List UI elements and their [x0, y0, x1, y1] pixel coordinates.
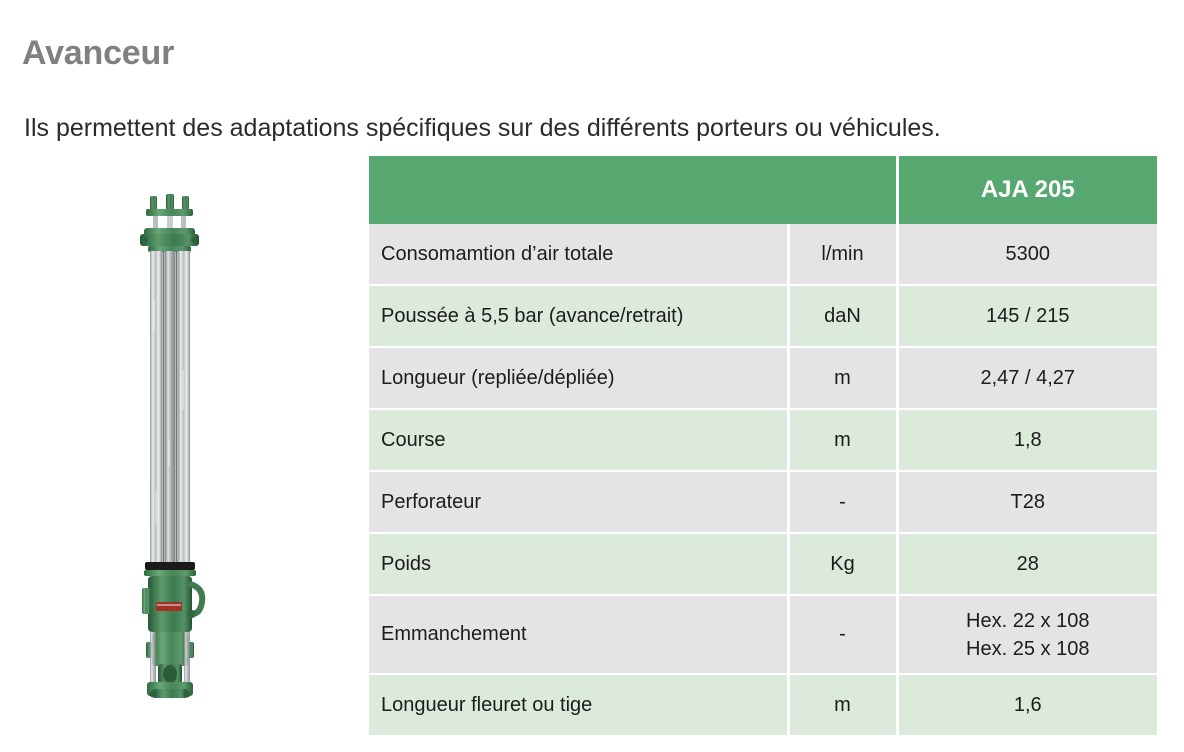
cell-spec-unit: - — [788, 595, 897, 674]
value-line: 1,8 — [899, 426, 1158, 454]
cell-spec-value: 5300 — [897, 224, 1157, 285]
cell-spec-value: Hex. 22 x 108Hex. 25 x 108 — [897, 595, 1157, 674]
value-line: 145 / 215 — [899, 302, 1158, 330]
table-row: Longueur (repliée/dépliée)m2,47 / 4,27 — [369, 347, 1157, 409]
cell-spec-value: 28 — [897, 533, 1157, 595]
cell-spec-name: Longueur fleuret ou tige — [369, 674, 788, 735]
value-line: 1,6 — [899, 691, 1158, 719]
cell-spec-unit: - — [788, 471, 897, 533]
cell-spec-unit: m — [788, 674, 897, 735]
cell-spec-name: Longueur (repliée/dépliée) — [369, 347, 788, 409]
value-line: 2,47 / 4,27 — [899, 364, 1158, 392]
header-cell-model: AJA 205 — [897, 156, 1157, 224]
cell-spec-name: Perforateur — [369, 471, 788, 533]
table-row: PoidsKg28 — [369, 533, 1157, 595]
cell-spec-value: 145 / 215 — [897, 285, 1157, 347]
cell-spec-unit: Kg — [788, 533, 897, 595]
cell-spec-unit: m — [788, 409, 897, 471]
product-figure — [0, 145, 360, 745]
header-cell-unit — [788, 156, 897, 224]
table-row: Emmanchement-Hex. 22 x 108Hex. 25 x 108 — [369, 595, 1157, 674]
cell-spec-name: Poids — [369, 533, 788, 595]
header-row: AJA 205 — [369, 156, 1157, 224]
specifications-table: AJA 205 Consomamtion d’air totalel/min53… — [369, 156, 1157, 735]
cell-spec-name: Emmanchement — [369, 595, 788, 674]
cell-spec-name: Consomamtion d’air totale — [369, 224, 788, 285]
cell-spec-unit: m — [788, 347, 897, 409]
table-row: Coursem1,8 — [369, 409, 1157, 471]
value-line: Hex. 25 x 108 — [899, 635, 1158, 663]
cell-spec-unit: l/min — [788, 224, 897, 285]
page-title: Avanceur — [22, 31, 174, 75]
table-row: Poussée à 5,5 bar (avance/retrait)daN145… — [369, 285, 1157, 347]
table-header: AJA 205 — [369, 156, 1157, 224]
cell-spec-name: Poussée à 5,5 bar (avance/retrait) — [369, 285, 788, 347]
table-row: Perforateur-T28 — [369, 471, 1157, 533]
drill-feed-leg-image — [120, 190, 220, 700]
cell-spec-value: 1,6 — [897, 674, 1157, 735]
page-subtitle: Ils permettent des adaptations spécifiqu… — [24, 110, 941, 146]
value-line: T28 — [899, 488, 1158, 516]
cell-spec-name: Course — [369, 409, 788, 471]
table-row: Consomamtion d’air totalel/min5300 — [369, 224, 1157, 285]
cell-spec-unit: daN — [788, 285, 897, 347]
cell-spec-value: T28 — [897, 471, 1157, 533]
value-line: Hex. 22 x 108 — [899, 607, 1158, 635]
table-row: Longueur fleuret ou tigem1,6 — [369, 674, 1157, 735]
header-cell-name — [369, 156, 788, 224]
value-line: 28 — [899, 550, 1158, 578]
cell-spec-value: 2,47 / 4,27 — [897, 347, 1157, 409]
value-line: 5300 — [899, 240, 1158, 268]
cell-spec-value: 1,8 — [897, 409, 1157, 471]
table-body: Consomamtion d’air totalel/min5300Poussé… — [369, 224, 1157, 735]
